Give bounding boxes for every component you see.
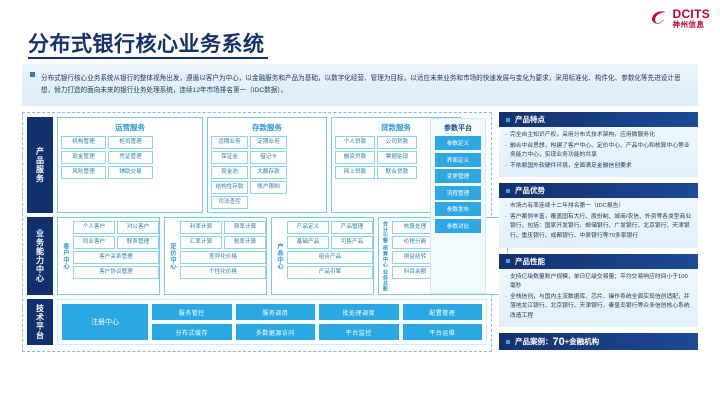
- param-item[interactable]: 变更管理: [435, 169, 481, 183]
- card-header: 产品性能: [499, 254, 698, 269]
- service-cell[interactable]: 司法查控: [211, 196, 248, 209]
- param-platform: 参数平台 参数定义 界面定义 变更管理 流程管理 参数发布 参数对比: [430, 118, 486, 294]
- bullet-text: 市场占有率连续十二年排名第一（IDC报告）: [510, 202, 624, 212]
- bullet-item: ·完全自主知识产权，采用分布式技术架构，应用微服务化: [505, 131, 692, 141]
- diagram-row-capability-centers: 业务能力中心 客户中心 个人客户 对公客户 同业客户 联系管理 客户关系管理 客…: [27, 217, 487, 295]
- bullet-dot-icon: ·: [505, 213, 507, 242]
- case-suffix: +金融机构: [565, 336, 599, 347]
- center-cell[interactable]: 个人客户: [73, 221, 115, 234]
- service-cell[interactable]: 大额存款: [250, 166, 287, 179]
- tech-cell[interactable]: 批处理调度: [319, 304, 399, 320]
- group-operation-services: 运营服务 机构管理 柜员管理 现金管理 凭证管理 风险管理 辅助交易: [57, 117, 203, 213]
- service-cell[interactable]: 个人贷款: [335, 136, 375, 149]
- param-item[interactable]: 界面定义: [435, 153, 481, 167]
- bullet-dot-icon: ·: [505, 142, 507, 161]
- group-cells: 机构管理 柜员管理 现金管理 凭证管理 风险管理 辅助交易: [61, 136, 199, 179]
- bullet-dot-icon: ·: [505, 131, 507, 141]
- service-cell[interactable]: 风险管理: [61, 166, 106, 179]
- service-cell[interactable]: 机构管理: [61, 136, 106, 149]
- center-cell[interactable]: 可售产品: [331, 236, 373, 249]
- center-cell[interactable]: 汇率计算: [180, 236, 222, 249]
- service-cell[interactable]: 网上贷款: [335, 166, 375, 179]
- center-cell[interactable]: 联系管理: [117, 236, 159, 249]
- bullet-item: ·客户案例丰富，覆盖国有大行、股份制、城商/农信、外资等各类型商业银行，包括：国…: [505, 213, 692, 242]
- card-body: ·支持亿级数量账户规模，单日亿级交易量；平均交易响应时间小于100毫秒 ·全栈信…: [499, 269, 698, 328]
- bullet-item: ·融合中台思想，构建了客户中心、定价中心、产品中心和核算中心等业务能力中心，实现…: [505, 142, 692, 161]
- diagram-row-product-services: 产品服务 运营服务 机构管理 柜员管理 现金管理 凭证管理 风险管理 辅助交易 …: [27, 117, 487, 213]
- tech-cell[interactable]: 多数据源访问: [236, 324, 316, 340]
- bullet-text: 客户案例丰富，覆盖国有大行、股份制、城商/农信、外资等各类型商业银行，包括：国家…: [510, 213, 692, 242]
- intro-text: 分布式银行核心业务系统从银行的整体视角出发，遵循以客户为中心，以金融服务和产品为…: [41, 73, 690, 96]
- center-cell[interactable]: 差异化价格: [180, 251, 266, 264]
- card-body: ·市场占有率连续十二年排名第一（IDC报告） ·客户案例丰富，覆盖国有大行、股份…: [499, 198, 698, 247]
- service-cell[interactable]: 柜员管理: [108, 136, 153, 149]
- param-item[interactable]: 参数对比: [435, 219, 481, 233]
- service-cell[interactable]: 现金管理: [61, 151, 106, 164]
- group-deposit-services: 存款服务 活期业务 定期业务 保证金 借记卡 现金池 大额存款 结构性存款 账户…: [207, 117, 327, 213]
- card-product-features: 产品特点 ·完全自主知识产权，采用分布式技术架构，应用微服务化 ·融合中台思想，…: [499, 112, 698, 177]
- service-cell[interactable]: 结构性存款: [211, 181, 248, 194]
- bullet-dot-icon: ·: [505, 162, 507, 172]
- case-banner: 产品案例： 70 +金融机构: [499, 333, 698, 350]
- center-pricing: 定价中心 利率计算 费率计算 汇率计算 税率计算 差异化价格 个性化价格: [164, 217, 267, 295]
- tech-column: 配置管理 平台运维: [403, 304, 483, 340]
- center-cell[interactable]: 客户协议管理: [73, 266, 159, 279]
- center-cell[interactable]: 同业客户: [73, 236, 115, 249]
- card-bullet-icon: [506, 118, 510, 122]
- group-cells: 活期业务 定期业务 保证金 借记卡 现金池 大额存款 结构性存款 账户限制 司法…: [211, 136, 323, 209]
- case-prefix: 产品案例：: [515, 336, 553, 347]
- bullet-dot-icon: ·: [505, 202, 507, 212]
- param-item[interactable]: 参数定义: [435, 136, 481, 150]
- tech-platform: 注册中心 服务管控 分布式缓存 服务调用 多数据源访问 批处理调度 平台监控: [57, 299, 487, 345]
- bullet-item: ·不依赖国外软硬件环境，全面满足金融信创要求: [505, 162, 692, 172]
- center-cell[interactable]: 费率计算: [224, 221, 266, 234]
- info-panel: 产品特点 ·完全自主知识产权，采用分布式技术架构，应用微服务化 ·融合中台思想，…: [499, 112, 698, 350]
- tech-column: 服务调用 多数据源访问: [236, 304, 316, 340]
- card-title: 产品特点: [515, 114, 545, 125]
- param-platform-title: 参数平台: [444, 123, 472, 133]
- center-cell[interactable]: 产品引擎: [287, 266, 373, 279]
- service-cell[interactable]: 账户限制: [250, 181, 287, 194]
- bullet-item: ·全栈信创，与国内主流数据库、芯片、操作系统全面实现信创适配，并落地龙江银行、北…: [505, 293, 692, 322]
- diagram-row-tech-platform: 技术平台 注册中心 服务管控 分布式缓存 服务调用 多数据源访问 批处理调度 平…: [27, 299, 487, 345]
- card-header: 产品优势: [499, 183, 698, 198]
- center-cell[interactable]: 基础产品: [287, 236, 329, 249]
- center-side-label: 产品中心: [275, 221, 284, 291]
- center-side-label-center: 核算中心: [382, 245, 389, 268]
- service-cell[interactable]: 联合贷款: [377, 166, 417, 179]
- intro-banner: 分布式银行核心业务系统从银行的整体视角出发，遵循以客户为中心，以金融服务和产品为…: [22, 64, 698, 106]
- service-cell[interactable]: 票据贴现: [377, 151, 417, 164]
- tech-cell[interactable]: 平台运维: [403, 324, 483, 340]
- card-title: 产品优势: [515, 185, 545, 196]
- service-cell[interactable]: 借记卡: [250, 151, 287, 164]
- row-label-product-services: 产品服务: [27, 117, 53, 213]
- center-cell[interactable]: 对公客户: [117, 221, 159, 234]
- bullet-text: 支持亿级数量账户规模，单日亿级交易量；平均交易响应时间小于100毫秒: [510, 273, 692, 292]
- card-title: 产品性能: [515, 256, 545, 267]
- param-item[interactable]: 流程管理: [435, 186, 481, 200]
- service-cell[interactable]: 现金池: [211, 166, 248, 179]
- service-cell[interactable]: 定期业务: [250, 136, 287, 149]
- row-label-tech-platform: 技术平台: [27, 299, 53, 345]
- dcits-mark-icon: [649, 8, 669, 28]
- tech-columns: 服务管控 分布式缓存 服务调用 多数据源访问 批处理调度 平台监控 配置管理 平…: [152, 304, 482, 340]
- tech-column: 批处理调度 平台监控: [319, 304, 399, 340]
- service-cell[interactable]: 凭证管理: [108, 151, 153, 164]
- card-bullet-icon: [506, 259, 510, 263]
- center-product: 产品中心 产品定义 产品管理 基础产品 可售产品 组合产品 产品引擎: [271, 217, 374, 295]
- group-title: 存款服务: [211, 122, 323, 133]
- bullet-dot-icon: ·: [505, 293, 507, 322]
- bullet-text: 融合中台思想，构建了客户中心、定价中心、产品中心和核算中心等业务能力中心，实现业…: [510, 142, 692, 161]
- service-cell[interactable]: 融资贷款: [335, 151, 375, 164]
- row-label-capability-centers: 业务能力中心: [27, 217, 53, 295]
- card-bullet-icon: [506, 189, 510, 193]
- page-title: 分布式银行核心业务系统: [28, 28, 265, 58]
- tech-column: 服务管控 分布式缓存: [152, 304, 232, 340]
- tech-cell[interactable]: 分布式缓存: [152, 324, 232, 340]
- logo-text-en: DCITS: [673, 8, 711, 20]
- case-bullet-icon: [506, 340, 510, 344]
- logo-text-cn: 神州信息: [673, 21, 711, 29]
- center-cell[interactable]: 产品管理: [331, 221, 373, 234]
- param-item[interactable]: 参数发布: [435, 202, 481, 216]
- bullet-text: 全栈信创，与国内主流数据库、芯片、操作系统全面实现信创适配，并落地龙江银行、北京…: [510, 293, 692, 322]
- center-side-label: 客户中心: [61, 221, 70, 291]
- bullet-item: ·市场占有率连续十二年排名第一（IDC报告）: [505, 202, 692, 212]
- brand-logo: DCITS 神州信息: [649, 8, 711, 29]
- service-cell[interactable]: 辅助交易: [108, 166, 153, 179]
- center-side-label-engine: 会计引擎: [382, 221, 389, 244]
- bullet-dot-icon: ·: [505, 273, 507, 292]
- center-side-label-ledger: 业务总账: [382, 269, 389, 292]
- center-cells: 个人客户 对公客户 同业客户 联系管理 客户关系管理 客户协议管理: [73, 221, 159, 291]
- tech-cell[interactable]: 服务管控: [152, 304, 232, 320]
- tech-cell[interactable]: 服务调用: [236, 304, 316, 320]
- bullet-text: 完全自主知识产权，采用分布式技术架构，应用微服务化: [510, 131, 655, 141]
- card-product-advantages: 产品优势 ·市场占有率连续十二年排名第一（IDC报告） ·客户案例丰富，覆盖国有…: [499, 183, 698, 247]
- center-cell[interactable]: 组合产品: [287, 251, 373, 264]
- center-cell[interactable]: 产品定义: [287, 221, 329, 234]
- architecture-diagram: 产品服务 运营服务 机构管理 柜员管理 现金管理 凭证管理 风险管理 辅助交易 …: [22, 112, 492, 352]
- service-cell[interactable]: 保证金: [211, 151, 248, 164]
- service-cell[interactable]: 活期业务: [211, 136, 248, 149]
- center-cell[interactable]: 利率计算: [180, 221, 222, 234]
- center-customer: 客户中心 个人客户 对公客户 同业客户 联系管理 客户关系管理 客户协议管理: [57, 217, 160, 295]
- bullet-text: 不依赖国外软硬件环境，全面满足金融信创要求: [510, 162, 632, 172]
- center-cells: 利率计算 费率计算 汇率计算 税率计算 差异化价格 个性化价格: [180, 221, 266, 291]
- intro-bullet-icon: [30, 72, 35, 77]
- tech-register-center[interactable]: 注册中心: [62, 304, 148, 340]
- service-cell[interactable]: 公司贷款: [377, 136, 417, 149]
- bullet-item: ·支持亿级数量账户规模，单日亿级交易量；平均交易响应时间小于100毫秒: [505, 273, 692, 292]
- center-cells: 产品定义 产品管理 基础产品 可售产品 组合产品 产品引擎: [287, 221, 373, 291]
- center-side-label: 定价中心: [168, 221, 177, 291]
- center-cell[interactable]: 个性化价格: [180, 266, 266, 279]
- card-header: 产品特点: [499, 112, 698, 127]
- center-cell[interactable]: 税率计算: [224, 236, 266, 249]
- center-side-label-group: 会计引擎 核算中心 业务总账: [382, 221, 389, 291]
- card-body: ·完全自主知识产权，采用分布式技术架构，应用微服务化 ·融合中台思想，构建了客户…: [499, 127, 698, 177]
- center-cell[interactable]: 客户关系管理: [73, 251, 159, 264]
- tech-cell[interactable]: 配置管理: [403, 304, 483, 320]
- card-product-performance: 产品性能 ·支持亿级数量账户规模，单日亿级交易量；平均交易响应时间小于100毫秒…: [499, 254, 698, 328]
- title-underline: [28, 57, 268, 59]
- slide-root: DCITS 神州信息 分布式银行核心业务系统 分布式银行核心业务系统从银行的整体…: [0, 0, 720, 405]
- case-number: 70: [553, 336, 565, 348]
- group-title: 运营服务: [61, 122, 199, 133]
- tech-cell[interactable]: 平台监控: [319, 324, 399, 340]
